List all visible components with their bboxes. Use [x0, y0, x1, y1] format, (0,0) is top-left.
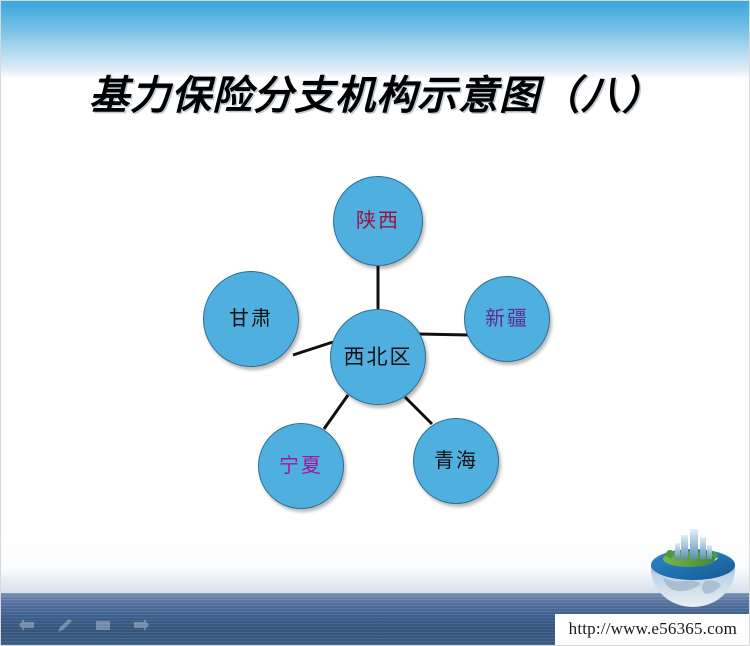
node-label-ningxia: 宁夏	[279, 456, 323, 476]
pencil-glyph	[57, 619, 73, 633]
page-title: 基力保险分支机构示意图（八）	[1, 63, 750, 121]
node-center-northwest[interactable]: 西北区	[330, 309, 426, 405]
website-url[interactable]: http://www.e56365.com	[555, 614, 749, 645]
node-label-qinghai: 青海	[434, 451, 478, 471]
slide-canvas: 基力保险分支机构示意图（八） 陕西 新疆 青海 宁夏	[0, 0, 750, 646]
node-label-shaanxi: 陕西	[356, 211, 400, 231]
edge-center-gansu	[293, 342, 333, 355]
arrow-left-glyph	[19, 619, 35, 633]
node-xinjiang[interactable]: 新疆	[464, 276, 550, 362]
node-shaanxi[interactable]: 陕西	[333, 176, 423, 266]
page-glyph	[95, 619, 111, 633]
node-label-center: 西北区	[344, 347, 413, 368]
node-ningxia[interactable]: 宁夏	[258, 423, 344, 509]
edge-center-xinjiang	[419, 334, 469, 335]
org-diagram: 陕西 新疆 青海 宁夏 甘肃 西北区	[181, 161, 581, 521]
decor-glyph-row	[19, 619, 149, 633]
edge-center-ningxia	[324, 395, 348, 429]
globe-city-logo	[645, 525, 741, 607]
node-label-xinjiang: 新疆	[485, 309, 529, 329]
node-gansu[interactable]: 甘肃	[203, 271, 299, 367]
node-label-gansu: 甘肃	[229, 309, 273, 329]
arrow-right-glyph	[133, 619, 149, 633]
node-qinghai[interactable]: 青海	[413, 418, 499, 504]
edge-center-qinghai	[405, 397, 432, 424]
